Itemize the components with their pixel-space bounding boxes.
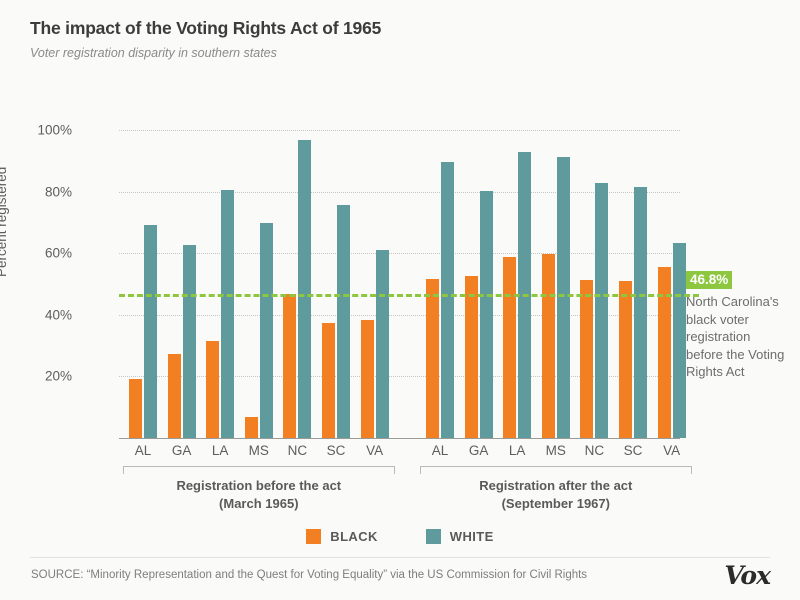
- vox-logo: Vox: [724, 563, 770, 589]
- group-label: Registration after the act(September 196…: [420, 477, 692, 513]
- x-axis-tick-label: VA: [652, 443, 692, 458]
- bar-white-ga-g2: [480, 191, 493, 438]
- bar-black-sc-g1: [322, 323, 335, 438]
- group-label-name: Registration before the act: [123, 477, 395, 495]
- x-axis-tick-label: GA: [459, 443, 499, 458]
- x-axis-tick-label: NC: [574, 443, 614, 458]
- x-axis-tick-label: LA: [200, 443, 240, 458]
- chart-subtitle: Voter registration disparity in southern…: [30, 46, 381, 60]
- bar-black-va-g1: [361, 320, 374, 438]
- y-axis-tick-label: 20%: [12, 369, 72, 384]
- group-label: Registration before the act(March 1965): [123, 477, 395, 513]
- x-axis-tick-label: AL: [420, 443, 460, 458]
- group-label-name: Registration after the act: [420, 477, 692, 495]
- group-label-sublabel: (September 1967): [420, 495, 692, 513]
- bar-white-va-g1: [376, 250, 389, 438]
- bar-white-sc-g1: [337, 205, 350, 438]
- status-badge: 46.8%: [686, 271, 732, 289]
- x-axis-tick-label: MS: [536, 443, 576, 458]
- bar-black-al-g1: [129, 379, 142, 438]
- bar-white-ga-g1: [183, 245, 196, 438]
- bar-white-la-g1: [221, 190, 234, 438]
- legend-swatch-icon: [426, 529, 441, 544]
- bar-white-ms-g2: [557, 157, 570, 438]
- reference-line: [119, 294, 699, 297]
- bar-black-ga-g2: [465, 276, 478, 438]
- bar-white-nc-g1: [298, 140, 311, 438]
- group-label-sublabel: (March 1965): [123, 495, 395, 513]
- bar-white-ms-g1: [260, 223, 273, 438]
- bar-white-va-g2: [673, 243, 686, 438]
- gridline: [119, 130, 680, 131]
- x-axis-tick-label: SC: [316, 443, 356, 458]
- x-axis-tick-label: AL: [123, 443, 163, 458]
- x-axis-tick-label: MS: [239, 443, 279, 458]
- x-axis-tick-label: VA: [355, 443, 395, 458]
- bar-white-al-g2: [441, 162, 454, 438]
- chart-plot-area: [119, 115, 680, 438]
- bar-white-nc-g2: [595, 183, 608, 438]
- bar-black-ms-g1: [245, 417, 258, 438]
- footer-divider: [30, 557, 770, 558]
- annotation-text: North Carolina's black voter registratio…: [686, 293, 790, 381]
- bar-black-nc-g1: [283, 294, 296, 438]
- bar-black-va-g2: [658, 267, 671, 438]
- x-axis-tick-label: LA: [497, 443, 537, 458]
- x-axis-tick-label: SC: [613, 443, 653, 458]
- bar-black-sc-g2: [619, 281, 632, 439]
- legend-swatch-icon: [306, 529, 321, 544]
- source-text: SOURCE: “Minority Representation and the…: [31, 569, 587, 581]
- y-axis-tick-label: 60%: [12, 246, 72, 261]
- bar-black-nc-g2: [580, 280, 593, 438]
- bar-black-la-g2: [503, 257, 516, 438]
- page-title: The impact of the Voting Rights Act of 1…: [30, 18, 381, 39]
- y-axis-tick-label: 100%: [12, 123, 72, 138]
- y-axis-tick-label: 80%: [12, 184, 72, 199]
- legend-label: WHITE: [450, 529, 494, 544]
- x-axis-tick-label: GA: [162, 443, 202, 458]
- legend-item-white: WHITE: [426, 529, 494, 544]
- bar-black-la-g1: [206, 341, 219, 438]
- group-bracket: [420, 466, 692, 474]
- bar-black-ms-g2: [542, 254, 555, 438]
- legend-label: BLACK: [330, 529, 378, 544]
- legend-item-black: BLACK: [306, 529, 378, 544]
- legend: BLACKWHITE: [0, 529, 800, 544]
- x-axis-baseline: [119, 438, 680, 439]
- y-axis-tick-label: 40%: [12, 307, 72, 322]
- y-axis-title: Percent registered: [0, 167, 9, 277]
- group-bracket: [123, 466, 395, 474]
- chart-header: The impact of the Voting Rights Act of 1…: [30, 18, 381, 60]
- bar-black-ga-g1: [168, 354, 181, 438]
- bar-white-al-g1: [144, 225, 157, 438]
- bar-white-sc-g2: [634, 187, 647, 438]
- x-axis-tick-label: NC: [277, 443, 317, 458]
- bar-black-al-g2: [426, 279, 439, 438]
- reference-annotation: 46.8% North Carolina's black voter regis…: [686, 271, 790, 381]
